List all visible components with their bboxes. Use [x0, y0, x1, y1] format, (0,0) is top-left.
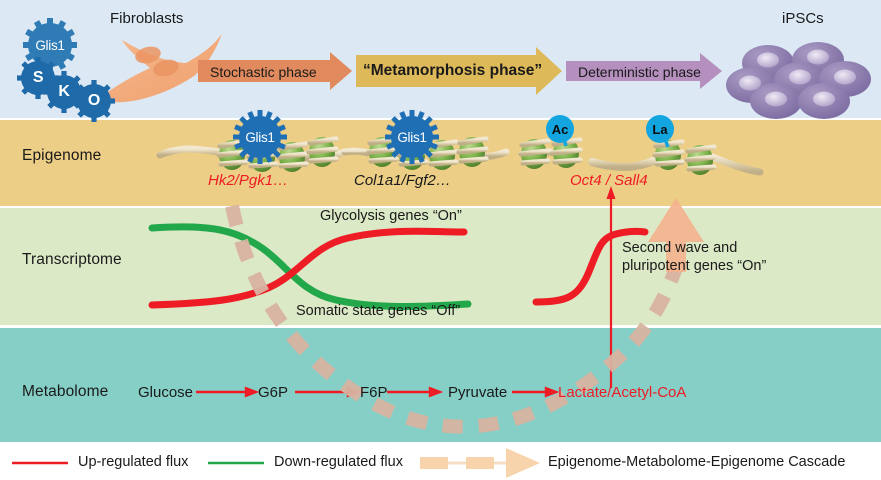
gene-label-glycolysis: Hk2/Pgk1…: [208, 172, 288, 189]
acetylation-mark-badge: Ac: [546, 115, 574, 143]
row-label-epigenome: Epigenome: [22, 147, 101, 165]
annotation-second-wave-line1: Second wave and: [622, 240, 737, 257]
metabolite-g6p: G6P: [258, 384, 288, 401]
legend-label-cascade: Epigenome-Metabolome-Epigenome Cascade: [548, 454, 845, 470]
figure-canvas: Fibroblasts iPSCs Glis1 S K O Stochastic…: [0, 0, 881, 480]
panel-epigenome: [0, 120, 881, 206]
glis1-badge-label-2: Glis1: [390, 128, 434, 146]
gear-label-s: S: [28, 69, 48, 87]
glis1-gear-label: Glis1: [28, 36, 72, 54]
gene-label-pluripotency: Oct4 / Sall4: [570, 172, 648, 189]
lactylation-mark-badge: La: [646, 115, 674, 143]
metabolite-lactate-acetylcoa: Lactate/Acetyl-CoA: [558, 384, 686, 401]
gear-label-k: K: [54, 83, 74, 101]
annotation-second-wave-line2: pluripotent genes “On”: [622, 258, 766, 275]
glis1-badge-label-1: Glis1: [238, 128, 282, 146]
metabolite-pyruvate: Pyruvate: [448, 384, 507, 401]
panel-metabolome: [0, 328, 881, 442]
metabolite-f6p: F6P: [360, 384, 388, 401]
label-ipscs: iPSCs: [782, 10, 824, 27]
gene-label-somatic: Col1a1/Fgf2…: [354, 172, 451, 189]
label-fibroblasts: Fibroblasts: [110, 10, 183, 27]
annotation-glycolysis-on: Glycolysis genes “On”: [320, 208, 462, 225]
row-label-transcriptome: Transcriptome: [22, 251, 122, 269]
metabolite-glucose: Glucose: [138, 384, 193, 401]
phase-label-metamorphosis: “Metamorphosis phase”: [363, 62, 542, 80]
annotation-somatic-off: Somatic state genes “Off”: [296, 303, 460, 320]
legend-label-down-regulated: Down-regulated flux: [274, 454, 403, 470]
legend-label-up-regulated: Up-regulated flux: [78, 454, 188, 470]
row-label-metabolome: Metabolome: [22, 383, 108, 401]
gear-label-o: O: [84, 92, 104, 110]
phase-label-deterministic: Deterministic phase: [578, 64, 701, 80]
phase-label-stochastic: Stochastic phase: [210, 64, 317, 80]
